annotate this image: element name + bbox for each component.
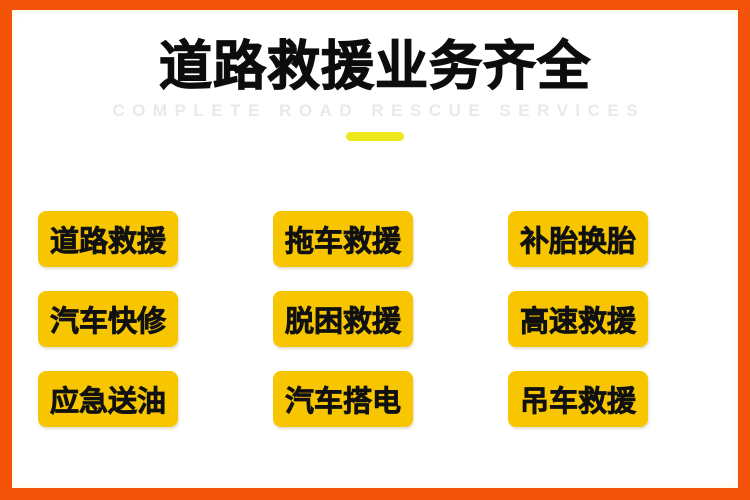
service-button-jump-start[interactable]: 汽车搭电 <box>273 371 413 427</box>
accent-divider <box>12 131 738 141</box>
service-button-road-rescue[interactable]: 道路救援 <box>38 211 178 267</box>
service-grid: 道路救援 拖车救援 补胎换胎 汽车快修 脱困救援 高速救援 应急送油 汽车搭电 … <box>38 211 712 427</box>
service-button-tow-rescue[interactable]: 拖车救援 <box>273 211 413 267</box>
poster-root: 道路救援业务齐全 COMPLETE ROAD RESCUE SERVICES 道… <box>0 0 750 500</box>
page-title: 道路救援业务齐全 <box>12 10 738 95</box>
service-button-extrication-rescue[interactable]: 脱困救援 <box>273 291 413 347</box>
service-button-quick-car-repair[interactable]: 汽车快修 <box>38 291 178 347</box>
service-button-highway-rescue[interactable]: 高速救援 <box>508 291 648 347</box>
service-button-tire-repair-replace[interactable]: 补胎换胎 <box>508 211 648 267</box>
service-button-crane-rescue[interactable]: 吊车救援 <box>508 371 648 427</box>
page-subtitle: COMPLETE ROAD RESCUE SERVICES <box>12 101 738 121</box>
accent-bar <box>346 132 404 141</box>
service-button-emergency-fuel[interactable]: 应急送油 <box>38 371 178 427</box>
header: 道路救援业务齐全 COMPLETE ROAD RESCUE SERVICES <box>12 10 738 141</box>
poster-canvas: 道路救援业务齐全 COMPLETE ROAD RESCUE SERVICES 道… <box>12 10 738 488</box>
